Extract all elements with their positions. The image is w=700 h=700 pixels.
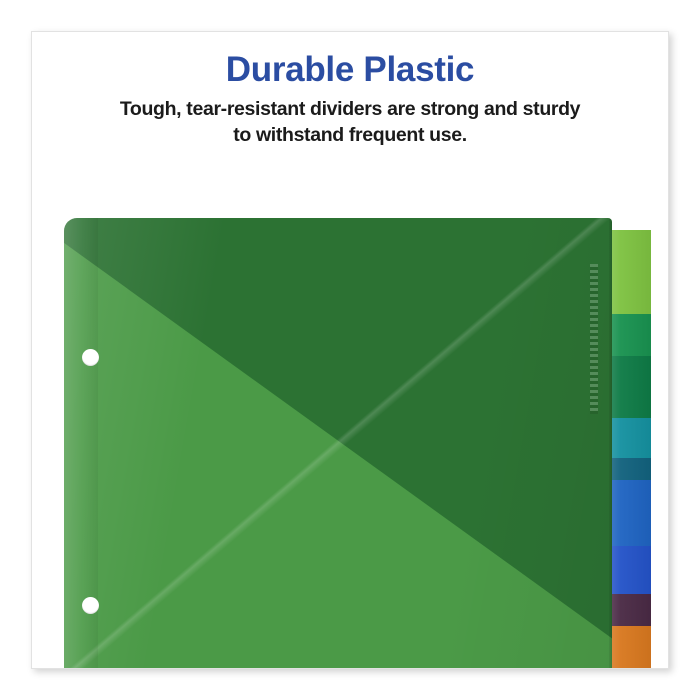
headline-block: Durable Plastic Tough, tear-resistant di… — [32, 50, 668, 149]
plastic-divider-sheet — [64, 218, 612, 668]
product-photo — [32, 154, 668, 668]
product-card: Durable Plastic Tough, tear-resistant di… — [31, 31, 669, 669]
sheet-right-edge — [609, 218, 612, 668]
page-title: Durable Plastic — [32, 50, 668, 89]
punch-hole-top — [82, 349, 99, 366]
subtitle-line-2: to withstand frequent use. — [233, 124, 467, 146]
perforation-strip — [590, 264, 598, 414]
product-image-canvas: Durable Plastic Tough, tear-resistant di… — [0, 0, 700, 700]
page-subtitle: Tough, tear-resistant dividers are stron… — [68, 97, 633, 148]
divider-front-pocket — [64, 218, 612, 668]
subtitle-line-1: Tough, tear-resistant dividers are stron… — [120, 98, 580, 120]
punch-hole-bottom — [82, 597, 99, 614]
